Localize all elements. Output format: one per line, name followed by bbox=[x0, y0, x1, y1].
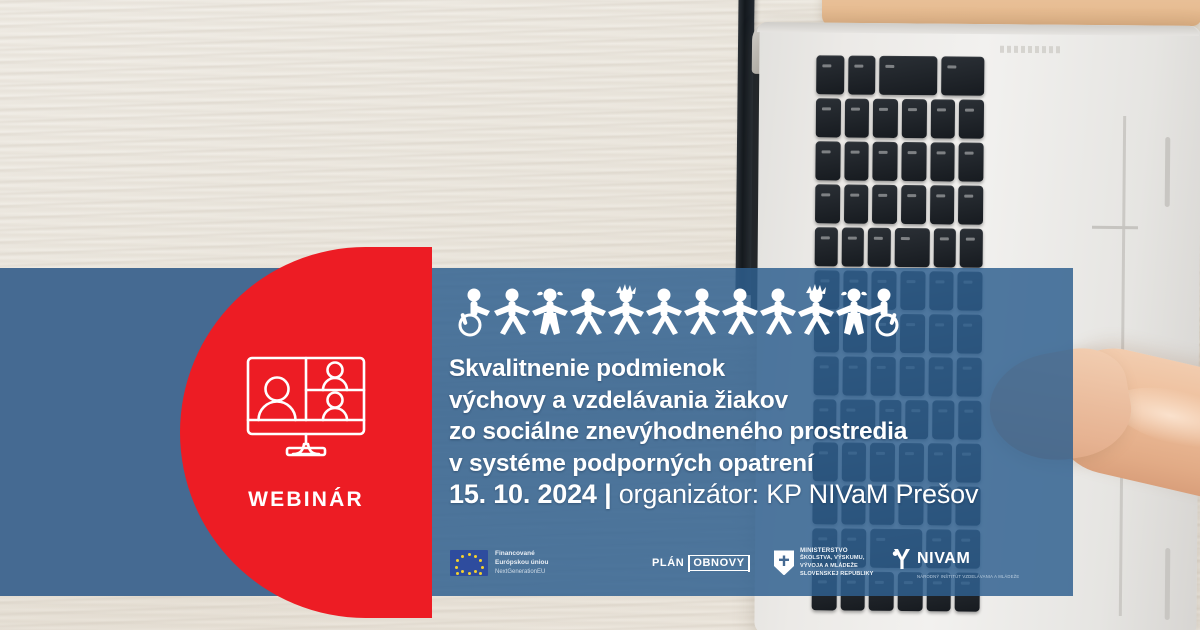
laptop-vent-top bbox=[1165, 137, 1171, 207]
webinar-label: WEBINÁR bbox=[248, 488, 364, 512]
headline-line-4: v systéme podporných opatrení bbox=[449, 448, 907, 480]
people-chain-decoration bbox=[450, 283, 906, 342]
nivam-word: NIVAM bbox=[917, 550, 970, 568]
headline-line-2: výchovy a vzdelávania žiakov bbox=[449, 385, 907, 417]
obnovy-word: OBNOVY bbox=[688, 555, 749, 571]
ministry-logo: MINISTERSTVO ŠKOLSTVA, VÝSKUMU, VÝVOJA A… bbox=[774, 547, 892, 580]
ministry-line-4: SLOVENSKEJ REPUBLIKY bbox=[800, 571, 874, 579]
event-date: 15. 10. 2024 bbox=[449, 479, 597, 509]
eu-text-line-3: NextGenerationEU bbox=[495, 568, 548, 576]
slovak-crest-icon bbox=[774, 550, 794, 575]
ministry-text: MINISTERSTVO ŠKOLSTVA, VÝSKUMU, VÝVOJA A… bbox=[800, 547, 874, 580]
eu-text-line-1: Financované bbox=[495, 550, 548, 559]
eu-funding-logo: Financované Európskou úniou NextGenerati… bbox=[450, 550, 652, 576]
video-monitor-icon bbox=[243, 354, 369, 458]
meta-separator: | bbox=[604, 479, 611, 509]
plan-word: PLÁN bbox=[652, 557, 684, 569]
people-chain-icon bbox=[450, 283, 906, 337]
ministry-line-3: VÝVOJA A MLÁDEŽE bbox=[800, 563, 874, 571]
headline: Skvalitnenie podmienok výchovy a vzdeláv… bbox=[449, 353, 907, 479]
banner-content: Skvalitnenie podmienok výchovy a vzdeláv… bbox=[448, 268, 1068, 596]
nivam-logo: NIVAM NÁRODNÝ INŠTITÚT VZDELÁVANIA A MLÁ… bbox=[892, 548, 1042, 579]
poster-canvas: WEBINÁR bbox=[0, 0, 1200, 630]
eu-funding-text: Financované Európskou úniou NextGenerati… bbox=[495, 550, 548, 576]
headline-line-1: Skvalitnenie podmienok bbox=[449, 353, 907, 385]
event-meta: 15. 10. 2024 | organizátor: KP NIVaM Pre… bbox=[449, 479, 978, 510]
event-organizer: organizátor: KP NIVaM Prešov bbox=[619, 479, 979, 509]
laptop-brand-mark bbox=[1000, 46, 1062, 54]
nivam-tagline: NÁRODNÝ INŠTITÚT VZDELÁVANIA A MLÁDEŽE bbox=[917, 574, 1019, 579]
plan-obnovy-logo: PLÁN OBNOVY bbox=[652, 555, 774, 571]
eu-flag-icon bbox=[450, 550, 488, 576]
nivam-mark-icon bbox=[892, 548, 912, 570]
tan-notebook bbox=[822, 0, 1200, 26]
laptop-trackpad-edge bbox=[1092, 226, 1138, 229]
laptop-vent-bottom bbox=[1165, 548, 1171, 620]
headline-line-3: zo sociálne znevýhodneného prostredia bbox=[449, 416, 907, 448]
eu-text-line-2: Európskou úniou bbox=[495, 559, 548, 568]
funding-logo-strip: Financované Európskou úniou NextGenerati… bbox=[450, 540, 1062, 586]
webinar-badge: WEBINÁR bbox=[180, 247, 432, 618]
